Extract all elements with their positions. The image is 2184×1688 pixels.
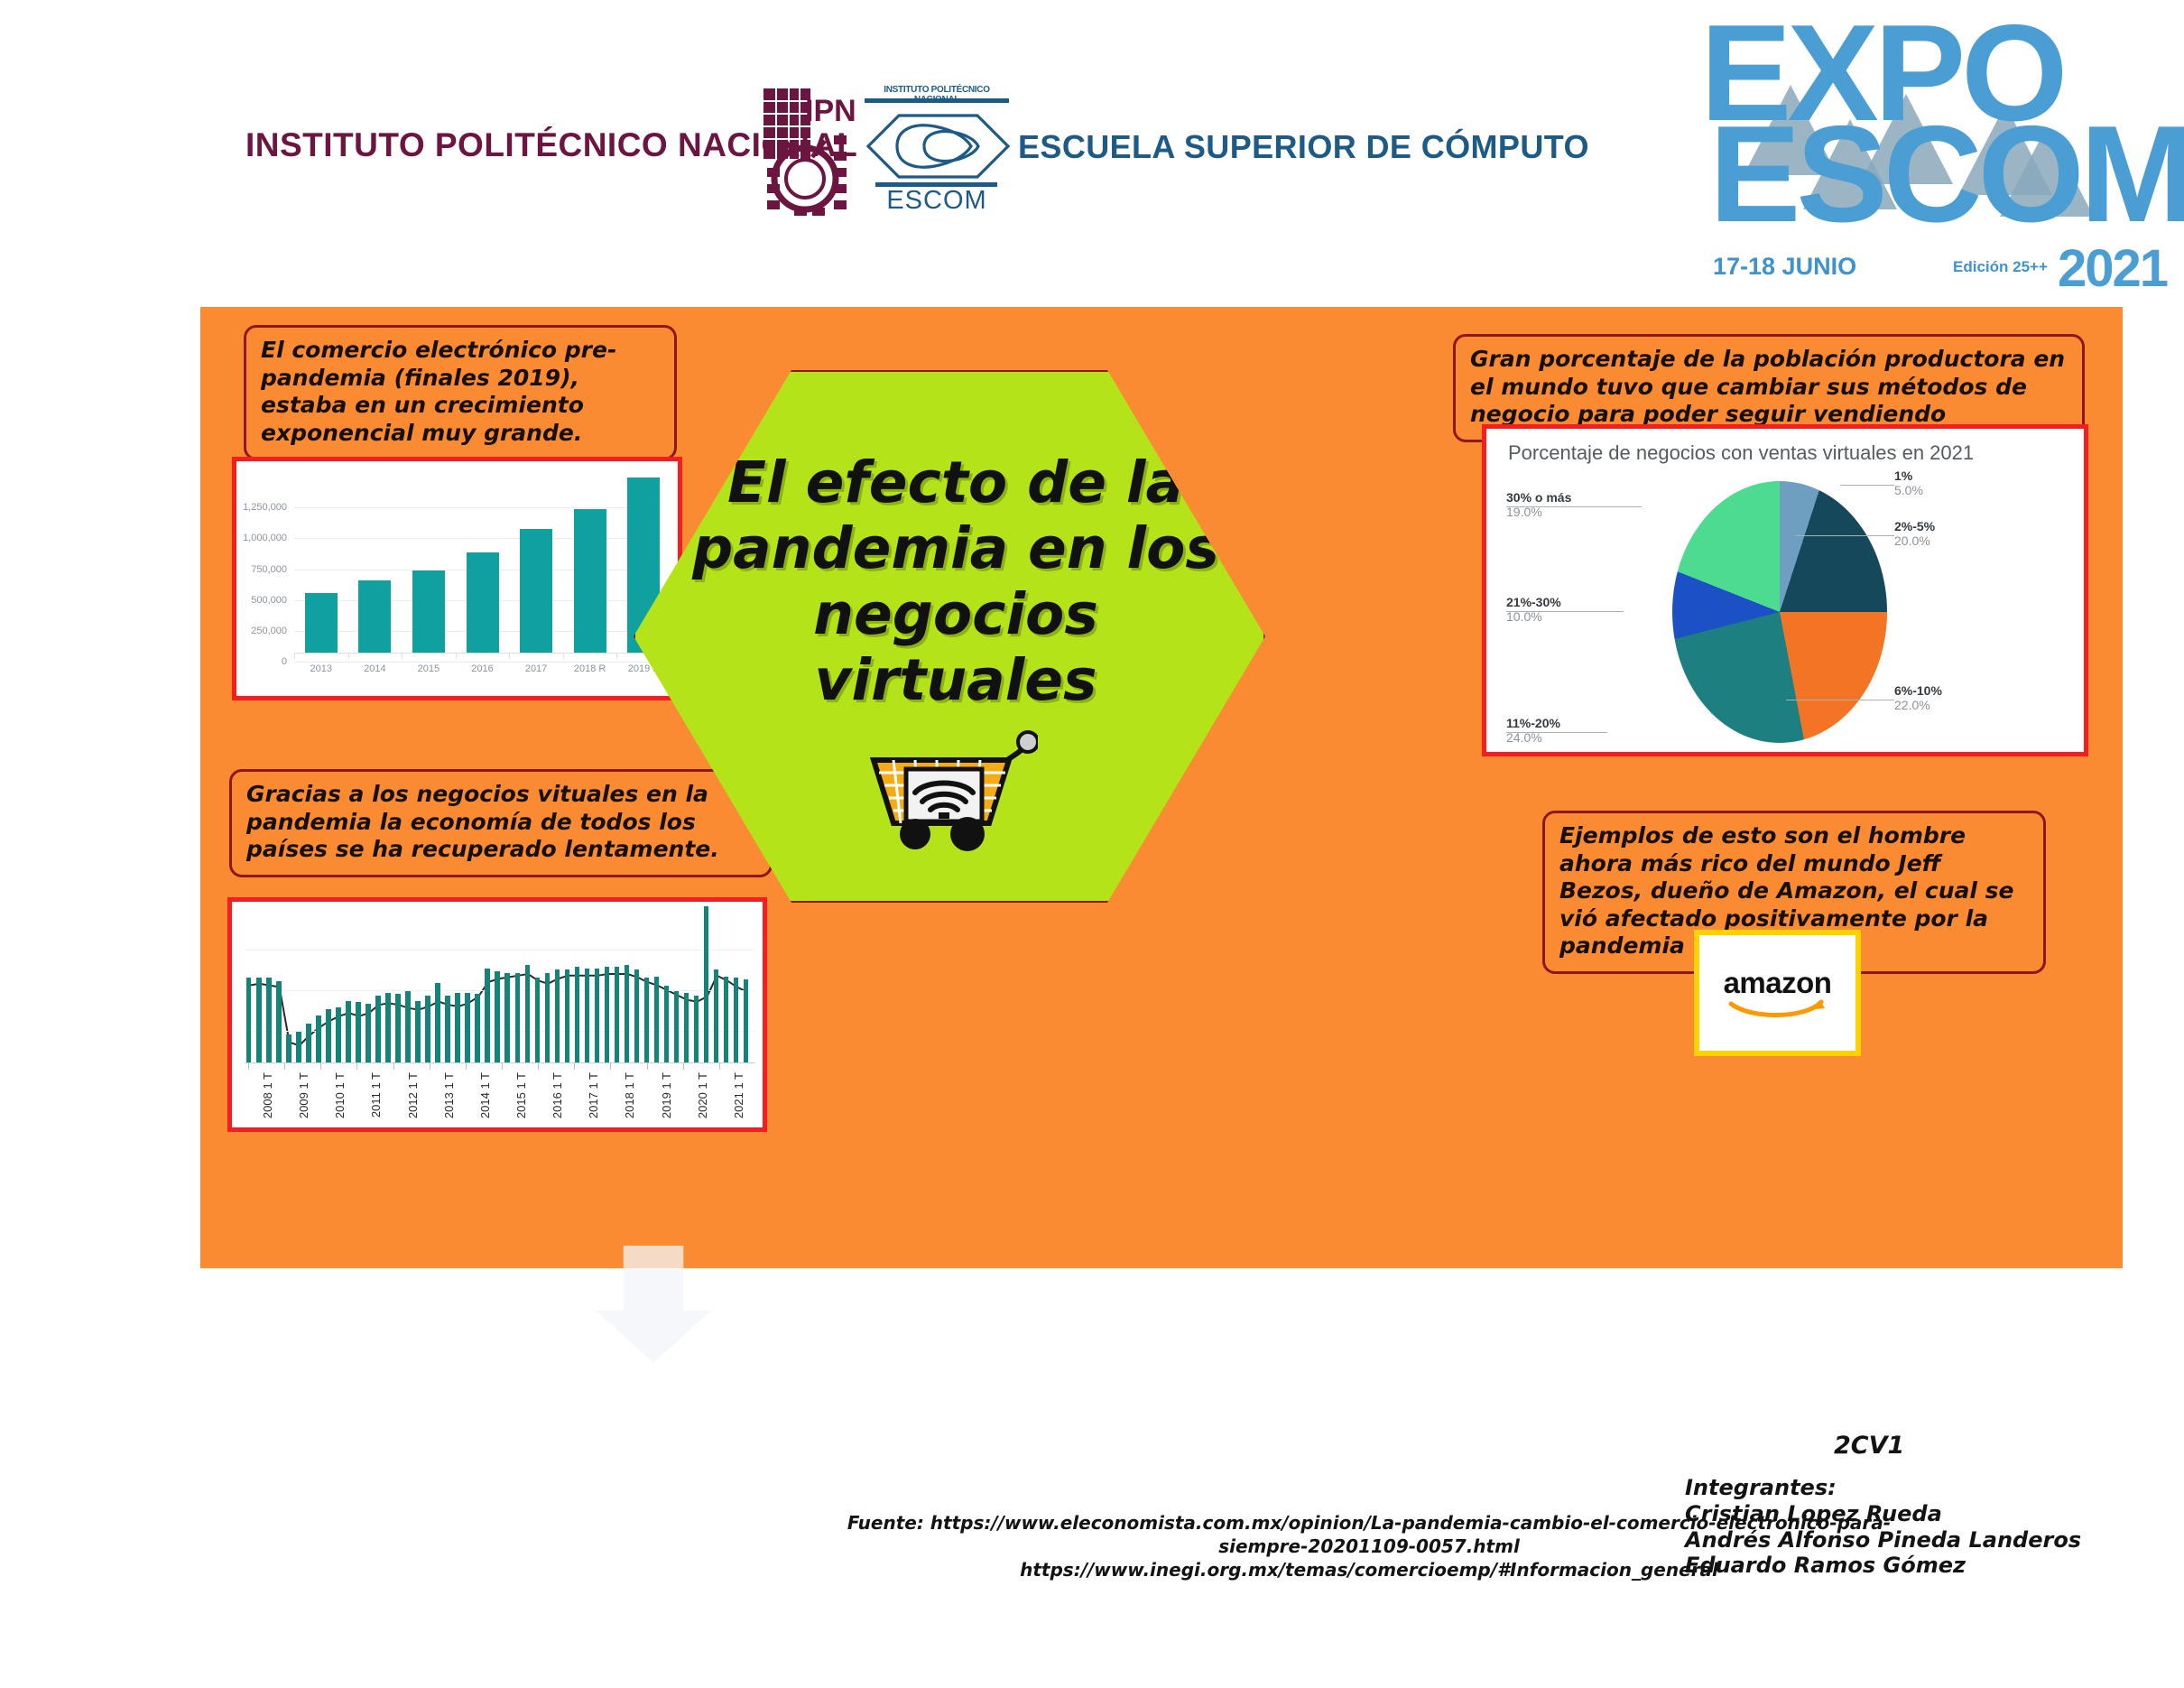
combo-x-tick-label: 2020 1 T [696, 1072, 709, 1118]
combo-gridline [245, 950, 755, 951]
combo-x-tick [284, 1062, 285, 1070]
combo-bar [356, 1002, 361, 1062]
school-name: ESCUELA SUPERIOR DE CÓMPUTO [1018, 128, 1589, 166]
bar-y-tick-label: 0 [282, 656, 287, 667]
combo-bar [306, 1024, 311, 1062]
pie-leader-line [1786, 700, 1894, 700]
bar-x-tick-label: 2013 [310, 663, 332, 674]
combo-bar [664, 986, 670, 1062]
bar-column [467, 552, 499, 653]
bar-x-tick [402, 653, 403, 659]
source-line: https://www.inegi.org.mx/temas/comercioe… [841, 1558, 1897, 1581]
combo-x-tick-label: 2021 1 T [732, 1072, 745, 1118]
source-references: Fuente: https://www.eleconomista.com.mx/… [841, 1511, 1897, 1581]
combo-bar [714, 969, 719, 1062]
logo-edition: Edición 25++ [1953, 258, 2048, 276]
bar-x-tick [616, 653, 617, 659]
combo-bar [625, 965, 630, 1062]
combo-bar [485, 969, 490, 1062]
pie-slice-callout: 1%5.0% [1894, 468, 1923, 497]
combo-bar [266, 978, 272, 1062]
combo-x-tick-label: 2014 1 T [478, 1072, 492, 1118]
combo-x-tick-label: 2010 1 T [333, 1072, 347, 1118]
bar-x-tick-label: 2018 R [574, 663, 606, 674]
combo-bar [744, 979, 749, 1062]
combo-bar [674, 991, 680, 1062]
escom-emblem-icon: INSTITUTO POLITÉCNICO NACIONAL ESCOM [859, 83, 1017, 218]
group-code: 2CV1 [1834, 1432, 1904, 1460]
combo-bar [276, 981, 282, 1062]
combo-x-tick [393, 1062, 394, 1070]
combo-bar [525, 965, 531, 1062]
combo-bar [644, 978, 650, 1062]
poster-canvas: El comercio electrónico pre-pandemia (fi… [200, 307, 2123, 1268]
bar-column [358, 580, 391, 653]
combo-x-tick-label: 2019 1 T [660, 1072, 673, 1118]
combo-bar [425, 996, 430, 1062]
combo-bar [375, 996, 381, 1062]
bar-gridline [294, 507, 662, 508]
escom-emblem-top-rule [865, 98, 1009, 103]
pie-slice-callout: 11%-20%24.0% [1506, 716, 1560, 745]
expo-escom-logo: EXPO ESCOM 17-18 JUNIO Edición 25++ 2021 [1697, 11, 2148, 282]
pie-slice-label: 21%-30% [1506, 595, 1561, 609]
bar-x-tick [563, 653, 564, 659]
bar-x-tick-label: 2015 [418, 663, 440, 674]
combo-x-tick [320, 1062, 321, 1070]
pie-slice-callout: 6%-10%22.0% [1894, 683, 1942, 712]
shopping-cart-wifi-icon [866, 726, 1038, 852]
pie-leader-line [1795, 535, 1894, 536]
team-member-line: Integrantes: [1685, 1475, 2081, 1501]
svg-text:IPN: IPN [805, 94, 856, 128]
pie-slice-value: 20.0% [1894, 533, 1935, 548]
combo-x-tick-label: 2016 1 T [551, 1072, 564, 1118]
combo-x-tick [430, 1062, 430, 1070]
combo-bar [296, 1032, 301, 1062]
pie-slice-callout: 2%-5%20.0% [1894, 519, 1935, 548]
bar-y-tick-label: 500,000 [251, 595, 287, 606]
combo-bar [405, 991, 411, 1062]
combo-x-tick-label: 2017 1 T [587, 1072, 600, 1118]
pie-slice-label: 1% [1894, 468, 1923, 483]
combo-x-tick [683, 1062, 684, 1070]
combo-bar [535, 978, 541, 1062]
pie-chart-disc [1672, 481, 1887, 743]
bar-y-tick-label: 750,000 [251, 564, 287, 575]
bar-column [520, 529, 552, 653]
combo-x-tick [466, 1062, 467, 1070]
source-line: Fuente: https://www.eleconomista.com.mx/… [841, 1511, 1897, 1558]
combo-chart-frame: 2008 1 T2009 1 T2010 1 T2011 1 T2012 1 T… [227, 897, 767, 1132]
bar-y-tick-label: 1,000,000 [243, 533, 287, 543]
combo-x-tick-label: 2013 1 T [442, 1072, 456, 1118]
page-header: INSTITUTO POLITÉCNICO NACIONAL IPN [0, 0, 2184, 298]
pie-slice-callout: 30% o más19.0% [1506, 490, 1571, 519]
logo-word-escom: ESCOM [1709, 117, 2184, 233]
combo-bar [585, 969, 590, 1062]
combo-bar [654, 977, 660, 1062]
bar-x-tick-label: 2016 [471, 663, 493, 674]
bar-x-tick-label: 2014 [364, 663, 385, 674]
pie-slice-label: 11%-20% [1506, 716, 1560, 730]
bar-y-tick-label: 250,000 [251, 626, 287, 636]
combo-x-tick [248, 1062, 249, 1070]
combo-x-tick [610, 1062, 611, 1070]
combo-x-tick-label: 2015 1 T [514, 1072, 528, 1118]
combo-x-tick [719, 1062, 720, 1070]
combo-bar [455, 993, 460, 1062]
combo-bar [565, 969, 570, 1062]
pie-leader-line [1840, 485, 1894, 486]
pie-slice-value: 22.0% [1894, 698, 1942, 712]
combo-bar [734, 978, 739, 1062]
combo-x-tick [647, 1062, 648, 1070]
bar-y-tick-label: 1,250,000 [243, 502, 287, 513]
combo-chart-plot: 2008 1 T2009 1 T2010 1 T2011 1 T2012 1 T… [245, 909, 755, 1062]
combo-bar [515, 973, 521, 1062]
combo-bar [605, 967, 610, 1062]
combo-bar [504, 973, 510, 1062]
combo-x-tick [502, 1062, 503, 1070]
pie-chart-frame: Porcentaje de negocios con ventas virtua… [1482, 424, 2088, 756]
combo-bar [256, 978, 262, 1062]
bar-column [305, 593, 338, 653]
combo-bar [286, 1034, 292, 1062]
combo-bar [634, 969, 640, 1062]
bar-x-tick-label: 2017 [525, 663, 547, 674]
bar-column [412, 570, 445, 653]
combo-bar [445, 996, 450, 1062]
combo-bar [724, 977, 729, 1062]
bar-chart-frame: 0250,000500,000750,0001,000,0001,250,000… [232, 457, 682, 700]
pie-slice-label: 30% o más [1506, 490, 1571, 505]
bar-column [574, 509, 606, 653]
combo-x-tick-label: 2011 1 T [369, 1072, 383, 1118]
combo-bar [704, 906, 709, 1062]
combo-bar [366, 1004, 371, 1062]
note-ecommerce-growth: El comercio electrónico pre-pandemia (fi… [244, 325, 677, 460]
combo-x-tick-label: 2018 1 T [623, 1072, 636, 1118]
combo-bar [684, 993, 689, 1062]
combo-x-tick [356, 1062, 357, 1070]
combo-bar [415, 1001, 421, 1062]
amazon-logo-card: amazon [1694, 930, 1861, 1056]
combo-x-tick [574, 1062, 575, 1070]
logo-dates: 17-18 JUNIO [1713, 253, 1856, 281]
combo-bar [595, 969, 600, 1062]
ipn-emblem-icon: IPN [758, 81, 857, 217]
bar-chart-plot: 0250,000500,000750,0001,000,0001,250,000… [294, 483, 662, 653]
combo-bar [495, 971, 500, 1062]
logo-year: 2021 [2058, 238, 2167, 299]
combo-bar [346, 1001, 351, 1062]
combo-bar [246, 978, 252, 1062]
combo-bar [316, 1016, 321, 1062]
combo-bar [385, 993, 391, 1062]
amazon-wordmark: amazon [1724, 968, 1832, 997]
bar-x-axis [294, 653, 662, 654]
bar-x-tick [348, 653, 349, 659]
page-title: El efecto de la pandemia en los negocios… [689, 450, 1222, 713]
combo-x-tick-label: 2008 1 T [261, 1072, 274, 1118]
pie-slice-label: 6%-10% [1894, 683, 1942, 698]
pie-chart-title: Porcentaje de negocios con ventas virtua… [1508, 441, 1974, 465]
combo-bar [475, 994, 480, 1062]
combo-x-tick [538, 1062, 539, 1070]
bar-gridline [294, 538, 662, 539]
bar-x-tick [456, 653, 457, 659]
bar-x-tick [509, 653, 510, 659]
pie-slice-label: 2%-5% [1894, 519, 1935, 533]
pie-leader-line [1506, 611, 1624, 612]
combo-x-tick-label: 2009 1 T [297, 1072, 310, 1118]
combo-bar [545, 973, 551, 1062]
combo-bar [336, 1007, 341, 1062]
bar-x-tick [294, 653, 295, 659]
combo-bar [435, 983, 440, 1062]
combo-bar [694, 996, 699, 1062]
combo-bar [395, 994, 401, 1062]
combo-bar [555, 969, 560, 1062]
combo-bar [465, 993, 470, 1062]
pie-leader-line [1506, 506, 1642, 507]
combo-bar [615, 967, 620, 1062]
bar-gridline [294, 662, 662, 663]
pie-slice-callout: 21%-30%10.0% [1506, 595, 1561, 624]
pie-slice-value: 5.0% [1894, 483, 1923, 497]
combo-x-tick-label: 2012 1 T [406, 1072, 420, 1118]
pie-leader-line [1506, 732, 1607, 733]
combo-bar [575, 967, 580, 1062]
escom-emblem-name: ESCOM [865, 186, 1009, 216]
combo-bar [326, 1009, 331, 1062]
amazon-smile-icon [1727, 999, 1828, 1019]
note-economy-recovery: Gracias a los negocios vituales en la pa… [229, 769, 773, 877]
